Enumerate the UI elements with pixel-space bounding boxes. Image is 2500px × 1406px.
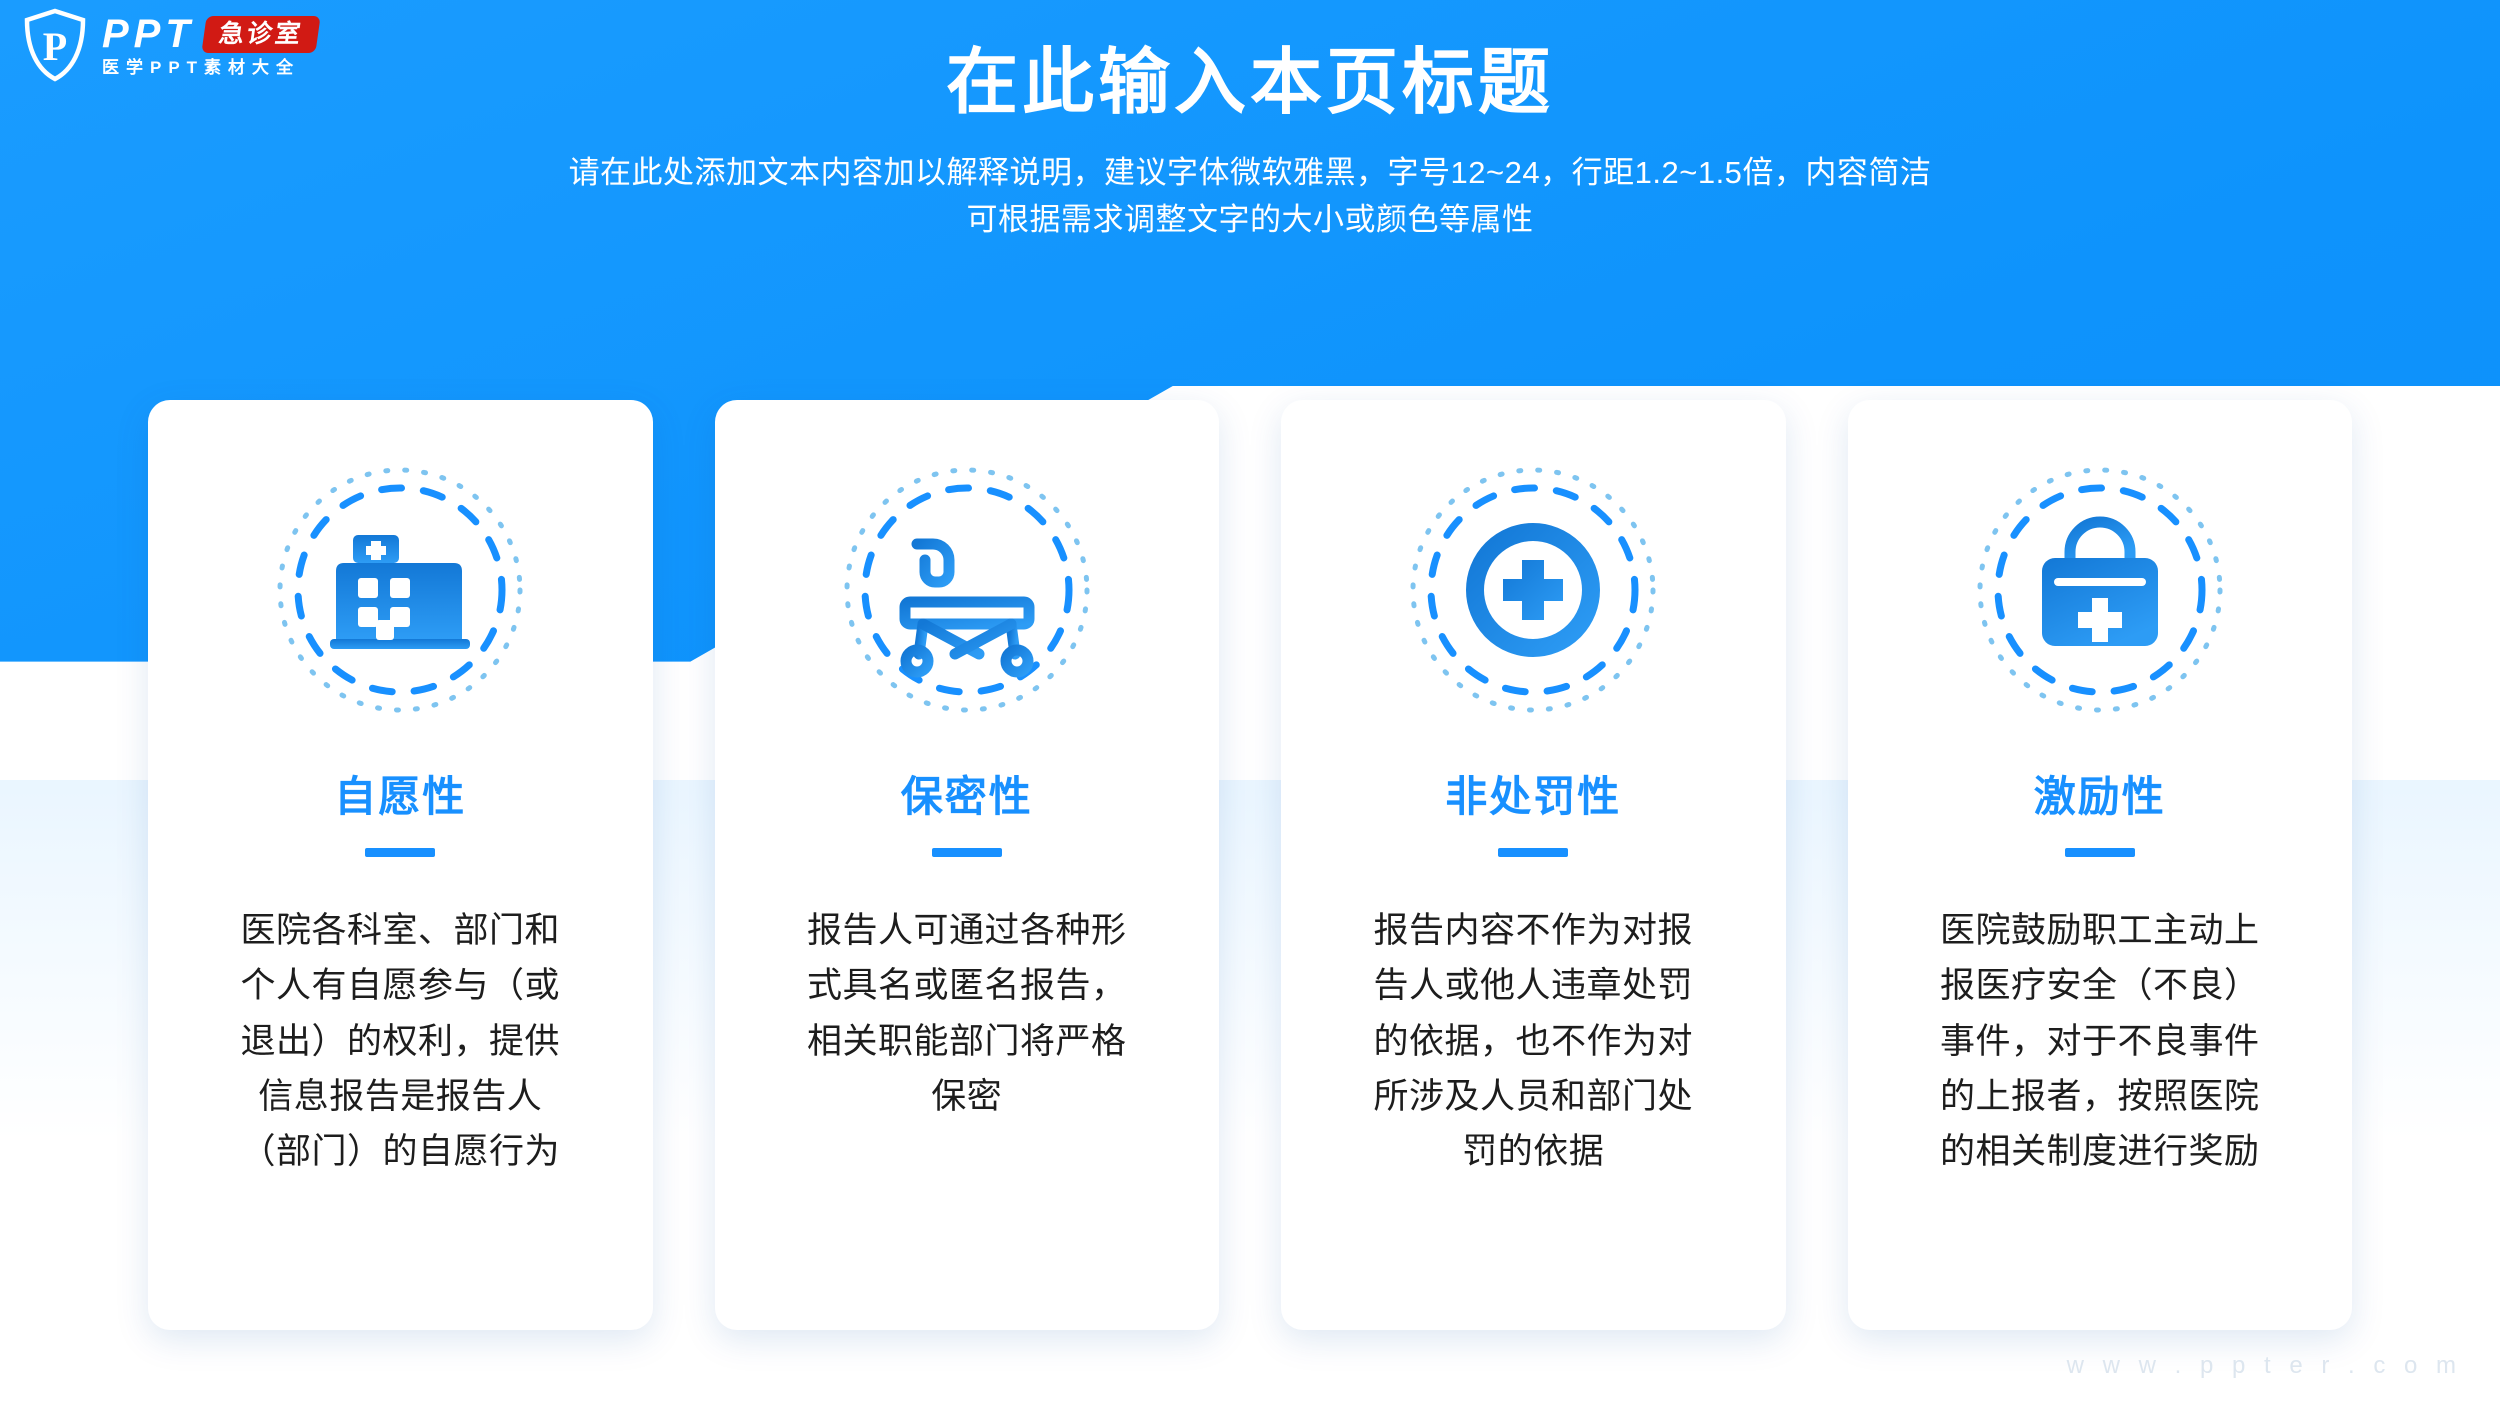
site-watermark: w w w . p p t e r . c o m [2067, 1352, 2462, 1380]
svg-text:P: P [43, 24, 67, 69]
logo-tagline: 医学PPT素材大全 [102, 59, 318, 76]
card-divider [1498, 848, 1568, 857]
card-body: 医院鼓励职工主动上报医疗安全（不良）事件，对于不良事件的上报者，按照医院的相关制… [1930, 903, 2270, 1179]
feature-card-non-punitive[interactable]: 非处罚性 报告内容不作为对报告人或他人违章处罚的依据，也不作为对所涉及人员和部门… [1281, 400, 1786, 1330]
hospital-building-icon [272, 462, 528, 718]
brand-logo[interactable]: P PPT 急诊室 医学PPT素材大全 [22, 8, 318, 82]
card-divider [2065, 848, 2135, 857]
card-body: 报告人可通过各种形式具名或匿名报告，相关职能部门将严格保密 [797, 903, 1137, 1124]
card-body: 报告内容不作为对报告人或他人违章处罚的依据，也不作为对所涉及人员和部门处罚的依据 [1363, 903, 1703, 1179]
shield-icon: P [22, 8, 88, 82]
logo-brand-text: PPT [102, 14, 195, 54]
slide-header: 在此输入本页标题 请在此处添加文本内容加以解释说明，建议字体微软雅黑，字号12~… [0, 0, 2500, 243]
card-title: 激励性 [2034, 776, 2166, 818]
subtitle-line-1: 请在此处添加文本内容加以解释说明，建议字体微软雅黑，字号12~24，行距1.2~… [0, 149, 2500, 196]
card-body: 医院各科室、部门和个人有自愿参与（或退出）的权利，提供信息报告是报告人（部门）的… [230, 903, 570, 1179]
hospital-stretcher-icon [839, 462, 1095, 718]
card-divider [932, 848, 1002, 857]
card-title: 保密性 [901, 776, 1033, 818]
card-divider [365, 848, 435, 857]
page-subtitle: 请在此处添加文本内容加以解释说明，建议字体微软雅黑，字号12~24，行距1.2~… [0, 149, 2500, 243]
feature-card-voluntary[interactable]: 自愿性 医院各科室、部门和个人有自愿参与（或退出）的权利，提供信息报告是报告人（… [148, 400, 653, 1330]
page-title: 在此输入本页标题 [0, 44, 2500, 123]
card-title: 非处罚性 [1445, 776, 1621, 818]
feature-card-incentive[interactable]: 激励性 医院鼓励职工主动上报医疗安全（不良）事件，对于不良事件的上报者，按照医院… [1848, 400, 2353, 1330]
subtitle-line-2: 可根据需求调整文字的大小或颜色等属性 [0, 196, 2500, 243]
feature-card-row: 自愿性 医院各科室、部门和个人有自愿参与（或退出）的权利，提供信息报告是报告人（… [148, 400, 2352, 1330]
card-title: 自愿性 [334, 776, 466, 818]
feature-card-confidential[interactable]: 保密性 报告人可通过各种形式具名或匿名报告，相关职能部门将严格保密 [715, 400, 1220, 1330]
logo-badge: 急诊室 [201, 16, 320, 53]
medical-cross-circle-icon [1405, 462, 1661, 718]
first-aid-kit-icon [1972, 462, 2228, 718]
